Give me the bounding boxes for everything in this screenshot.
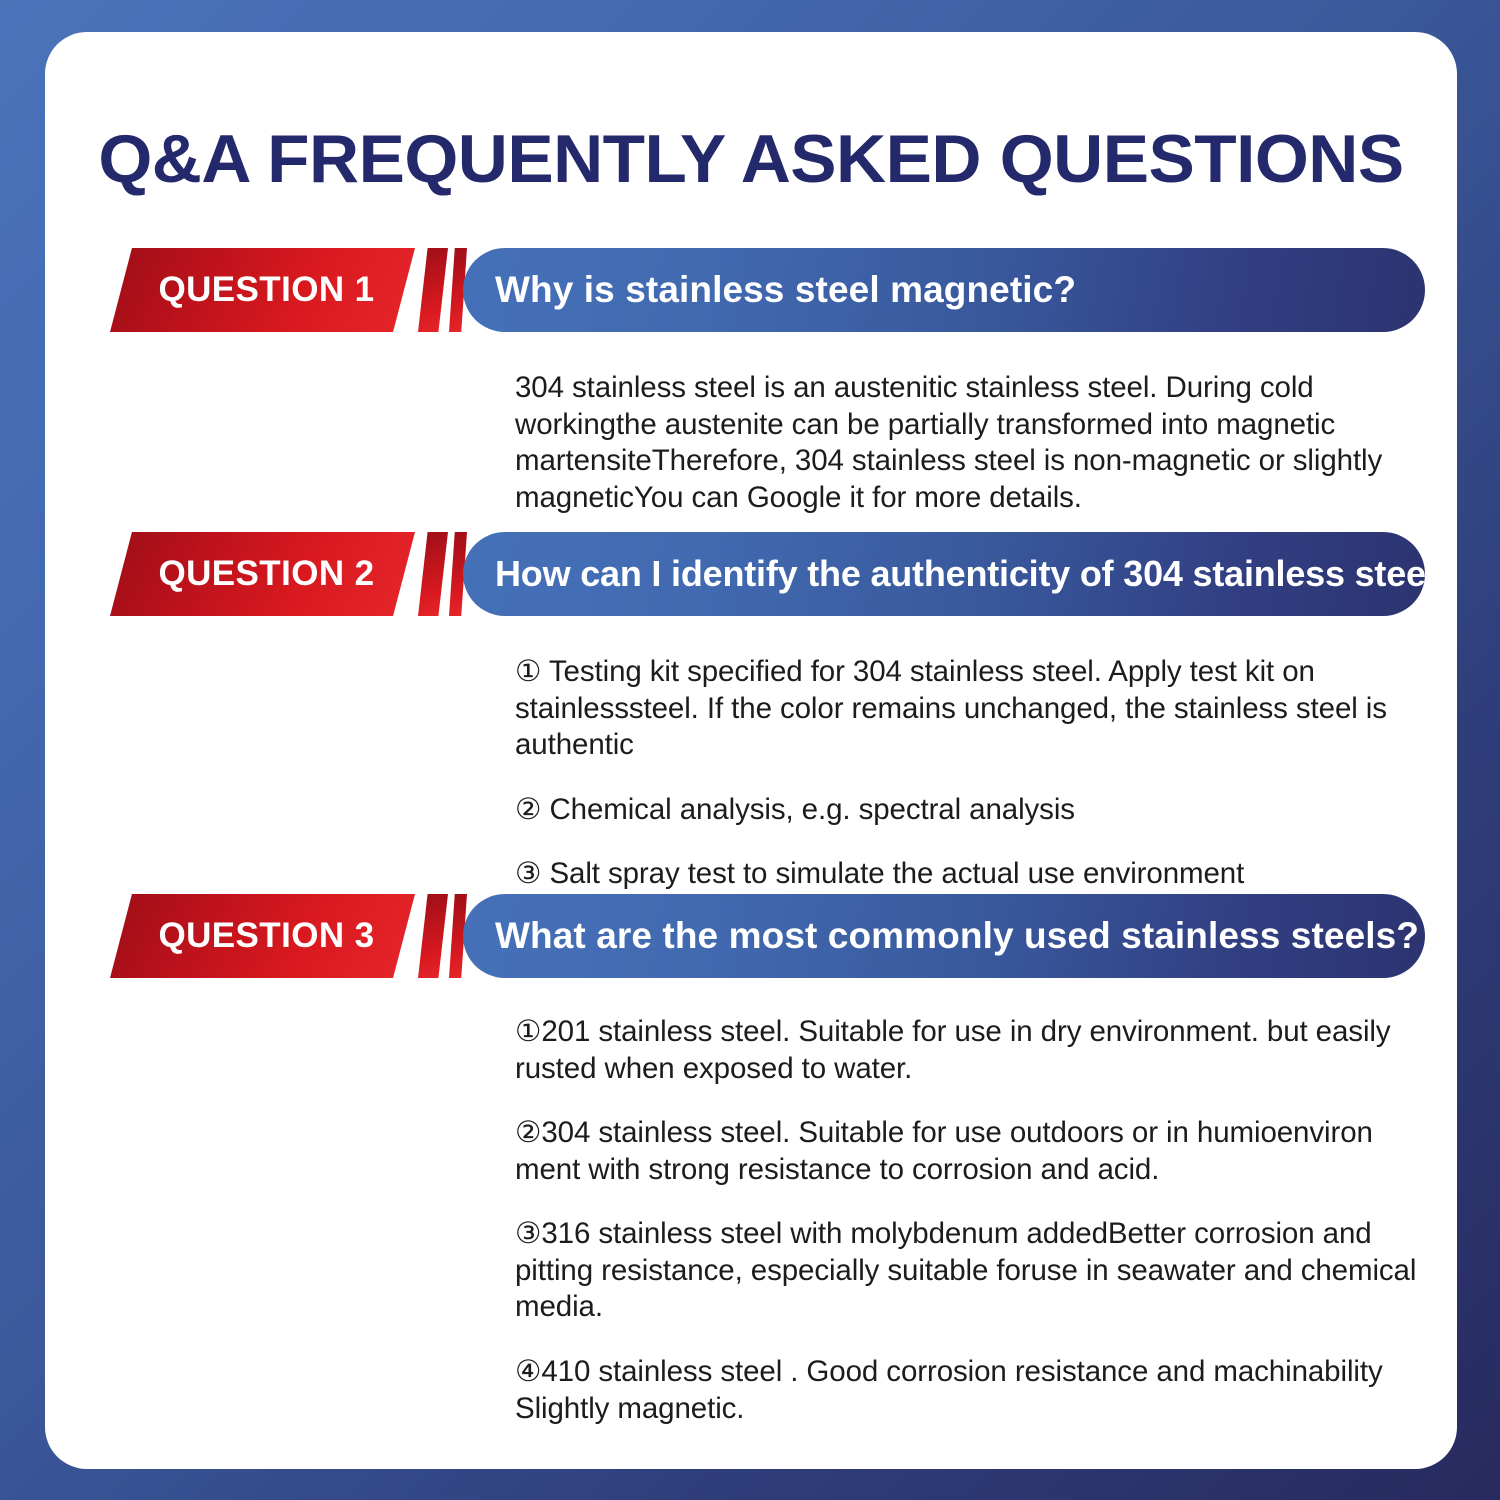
answer-paragraph: ①201 stainless steel. Suitable for use i… <box>515 1014 1425 1087</box>
answer-group-2: ① Testing kit specified for 304 stainles… <box>515 654 1425 893</box>
question-pill-3[interactable]: What are the most commonly used stainles… <box>463 894 1425 978</box>
question-badge-label-2: QUESTION 2 <box>159 554 375 594</box>
faq-item-1: QUESTION 1 Why is stainless steel magnet… <box>45 248 1457 334</box>
question-badge-label-3: QUESTION 3 <box>159 916 375 956</box>
answer-paragraph: ③316 stainless steel with molybdenum add… <box>515 1216 1445 1326</box>
slash-mark-icon-1a <box>418 248 448 332</box>
faq-header-2: QUESTION 2 How can I identify the authen… <box>45 532 1457 618</box>
slash-mark-icon-3a <box>418 894 448 978</box>
answer-paragraph: ① Testing kit specified for 304 stainles… <box>515 654 1425 764</box>
faq-item-3: QUESTION 3 What are the most commonly us… <box>45 894 1457 980</box>
answer-group-3: ①201 stainless steel. Suitable for use i… <box>515 1014 1425 1427</box>
content-card: Q&A FREQUENTLY ASKED QUESTIONS QUESTION … <box>45 32 1457 1469</box>
page-title: Q&A FREQUENTLY ASKED QUESTIONS <box>31 120 1471 198</box>
faq-header-3: QUESTION 3 What are the most commonly us… <box>45 894 1457 980</box>
answer-paragraph: ② Chemical analysis, e.g. spectral analy… <box>515 792 1425 829</box>
question-text-3: What are the most commonly used stainles… <box>463 915 1419 957</box>
answer-group-1: 304 stainless steel is an austenitic sta… <box>515 370 1425 516</box>
answer-paragraph: ②304 stainless steel. Suitable for use o… <box>515 1115 1445 1188</box>
answer-paragraph: ④410 stainless steel . Good corrosion re… <box>515 1354 1445 1427</box>
faq-item-2: QUESTION 2 How can I identify the authen… <box>45 532 1457 618</box>
question-badge-3[interactable]: QUESTION 3 <box>110 894 415 978</box>
question-badge-1[interactable]: QUESTION 1 <box>110 248 415 332</box>
question-badge-label-1: QUESTION 1 <box>159 270 375 310</box>
question-pill-1[interactable]: Why is stainless steel magnetic? <box>463 248 1425 332</box>
question-text-1: Why is stainless steel magnetic? <box>463 269 1076 311</box>
question-badge-2[interactable]: QUESTION 2 <box>110 532 415 616</box>
answer-paragraph: ③ Salt spray test to simulate the actual… <box>515 856 1425 893</box>
faq-header-1: QUESTION 1 Why is stainless steel magnet… <box>45 248 1457 334</box>
faq-infographic: Q&A FREQUENTLY ASKED QUESTIONS QUESTION … <box>0 0 1500 1500</box>
question-pill-2[interactable]: How can I identify the authenticity of 3… <box>463 532 1425 616</box>
question-text-2: How can I identify the authenticity of 3… <box>463 553 1457 595</box>
slash-mark-icon-2a <box>418 532 448 616</box>
answer-paragraph: 304 stainless steel is an austenitic sta… <box>515 370 1425 516</box>
